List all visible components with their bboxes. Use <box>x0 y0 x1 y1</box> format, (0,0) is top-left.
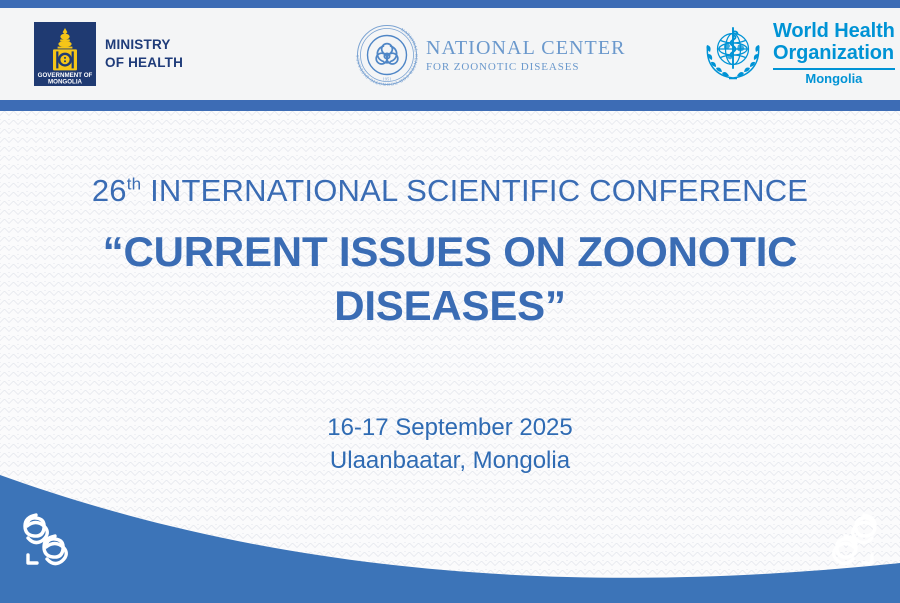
who-name-line1: World Health <box>773 21 895 43</box>
conference-title-rest: INTERNATIONAL SCIENTIFIC CONFERENCE <box>141 173 808 208</box>
footer-wave-decoration <box>0 463 900 603</box>
center-name-line1: NATIONAL CENTER <box>426 37 626 59</box>
event-date: 16-17 September 2025 <box>0 411 900 444</box>
ministry-of-health-logo: GOVERNMENT OF MONGOLIA MINISTRY OF HEALT… <box>34 22 183 86</box>
top-accent-bar <box>0 0 900 8</box>
svg-text:1951: 1951 <box>383 77 392 82</box>
conference-title-slide: GOVERNMENT OF MONGOLIA MINISTRY OF HEALT… <box>0 0 900 603</box>
who-divider-rule <box>773 68 895 70</box>
biohazard-seal-icon: NATIONAL CENTER FOR ZOONOTIC DISEASES 19… <box>352 20 422 90</box>
mongolia-soyombo-emblem-icon: GOVERNMENT OF MONGOLIA <box>34 22 96 86</box>
edition-ordinal-suffix: th <box>127 175 142 194</box>
mongolian-knot-ornament-icon-left <box>14 509 88 571</box>
svg-text:MONGOLIA: MONGOLIA <box>48 78 83 85</box>
edition-number: 26 <box>92 173 127 208</box>
conference-edition-title: 26th INTERNATIONAL SCIENTIFIC CONFERENCE <box>0 173 900 209</box>
title-block: 26th INTERNATIONAL SCIENTIFIC CONFERENCE… <box>0 173 900 333</box>
national-center-name: NATIONAL CENTER FOR ZOONOTIC DISEASES <box>426 37 626 73</box>
world-health-organization-logo: World Health Organization Mongolia <box>700 20 895 86</box>
ministry-name-line1: MINISTRY <box>105 37 171 52</box>
center-name-line2: FOR ZOONOTIC DISEASES <box>426 61 626 73</box>
ministry-name-line2: OF HEALTH <box>105 55 183 70</box>
who-emblem-icon <box>700 20 766 86</box>
ministry-of-health-name: MINISTRY OF HEALTH <box>105 36 183 72</box>
who-name-line2: Organization <box>773 43 895 65</box>
who-country-label: Mongolia <box>773 72 895 85</box>
who-wordmark: World Health Organization Mongolia <box>773 21 895 84</box>
national-center-zoonotic-diseases-logo: NATIONAL CENTER FOR ZOONOTIC DISEASES 19… <box>352 20 626 90</box>
mongolian-knot-ornament-icon-right <box>812 509 886 571</box>
header-divider-bar <box>0 100 900 111</box>
conference-theme-title: “CURRENT ISSUES ON ZOONOTIC DISEASES” <box>0 225 900 333</box>
